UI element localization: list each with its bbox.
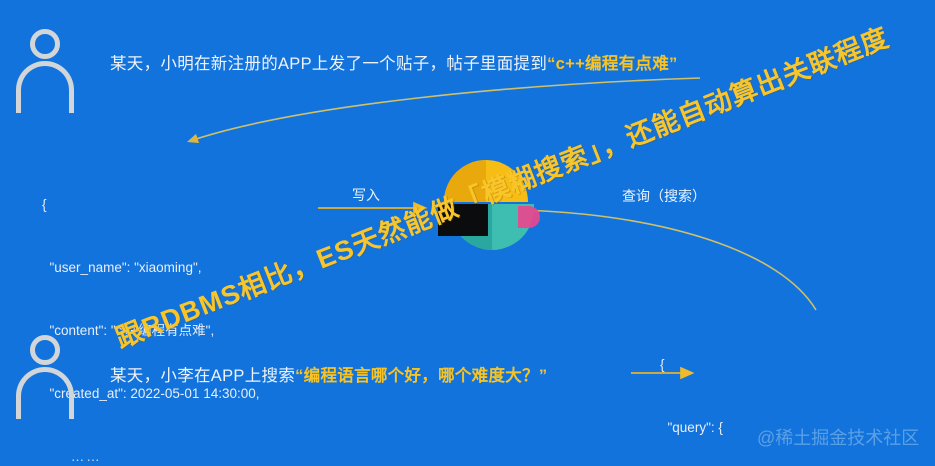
code-line-ellipsis: …… [42,446,260,466]
top-narration: 某天，小明在新注册的APP上发了一个贴子，帖子里面提到“c++编程有点难” [110,50,678,74]
avatar-body-icon [16,367,74,419]
top-narration-quote: “c++编程有点难” [547,55,677,73]
user-avatar-icon [14,27,78,97]
query-label: 查询（搜索） [622,186,706,206]
code-line: { [660,354,882,375]
bottom-narration-quote: “编程语言哪个好，哪个难度大？” [295,367,547,385]
watermark: @稀土掘金技术社区 [757,424,919,450]
search-to-query-arrow [520,210,816,310]
avatar-head-icon [30,335,60,365]
bottom-narration-prefix: 某天，小李在APP上搜索 [110,367,295,385]
avatar-body-icon [16,61,74,113]
write-label: 写入 [352,185,380,205]
logo-pink-shape [518,206,540,228]
user-avatar-icon [14,333,78,403]
bottom-narration: 某天，小李在APP上搜索“编程语言哪个好，哪个难度大？” [110,362,547,386]
diagram-canvas: 某天，小明在新注册的APP上发了一个贴子，帖子里面提到“c++编程有点难” { … [0,0,935,466]
top-narration-prefix: 某天，小明在新注册的APP上发了一个贴子，帖子里面提到 [110,55,547,73]
code-line: { [42,194,260,215]
avatar-head-icon [30,29,60,59]
